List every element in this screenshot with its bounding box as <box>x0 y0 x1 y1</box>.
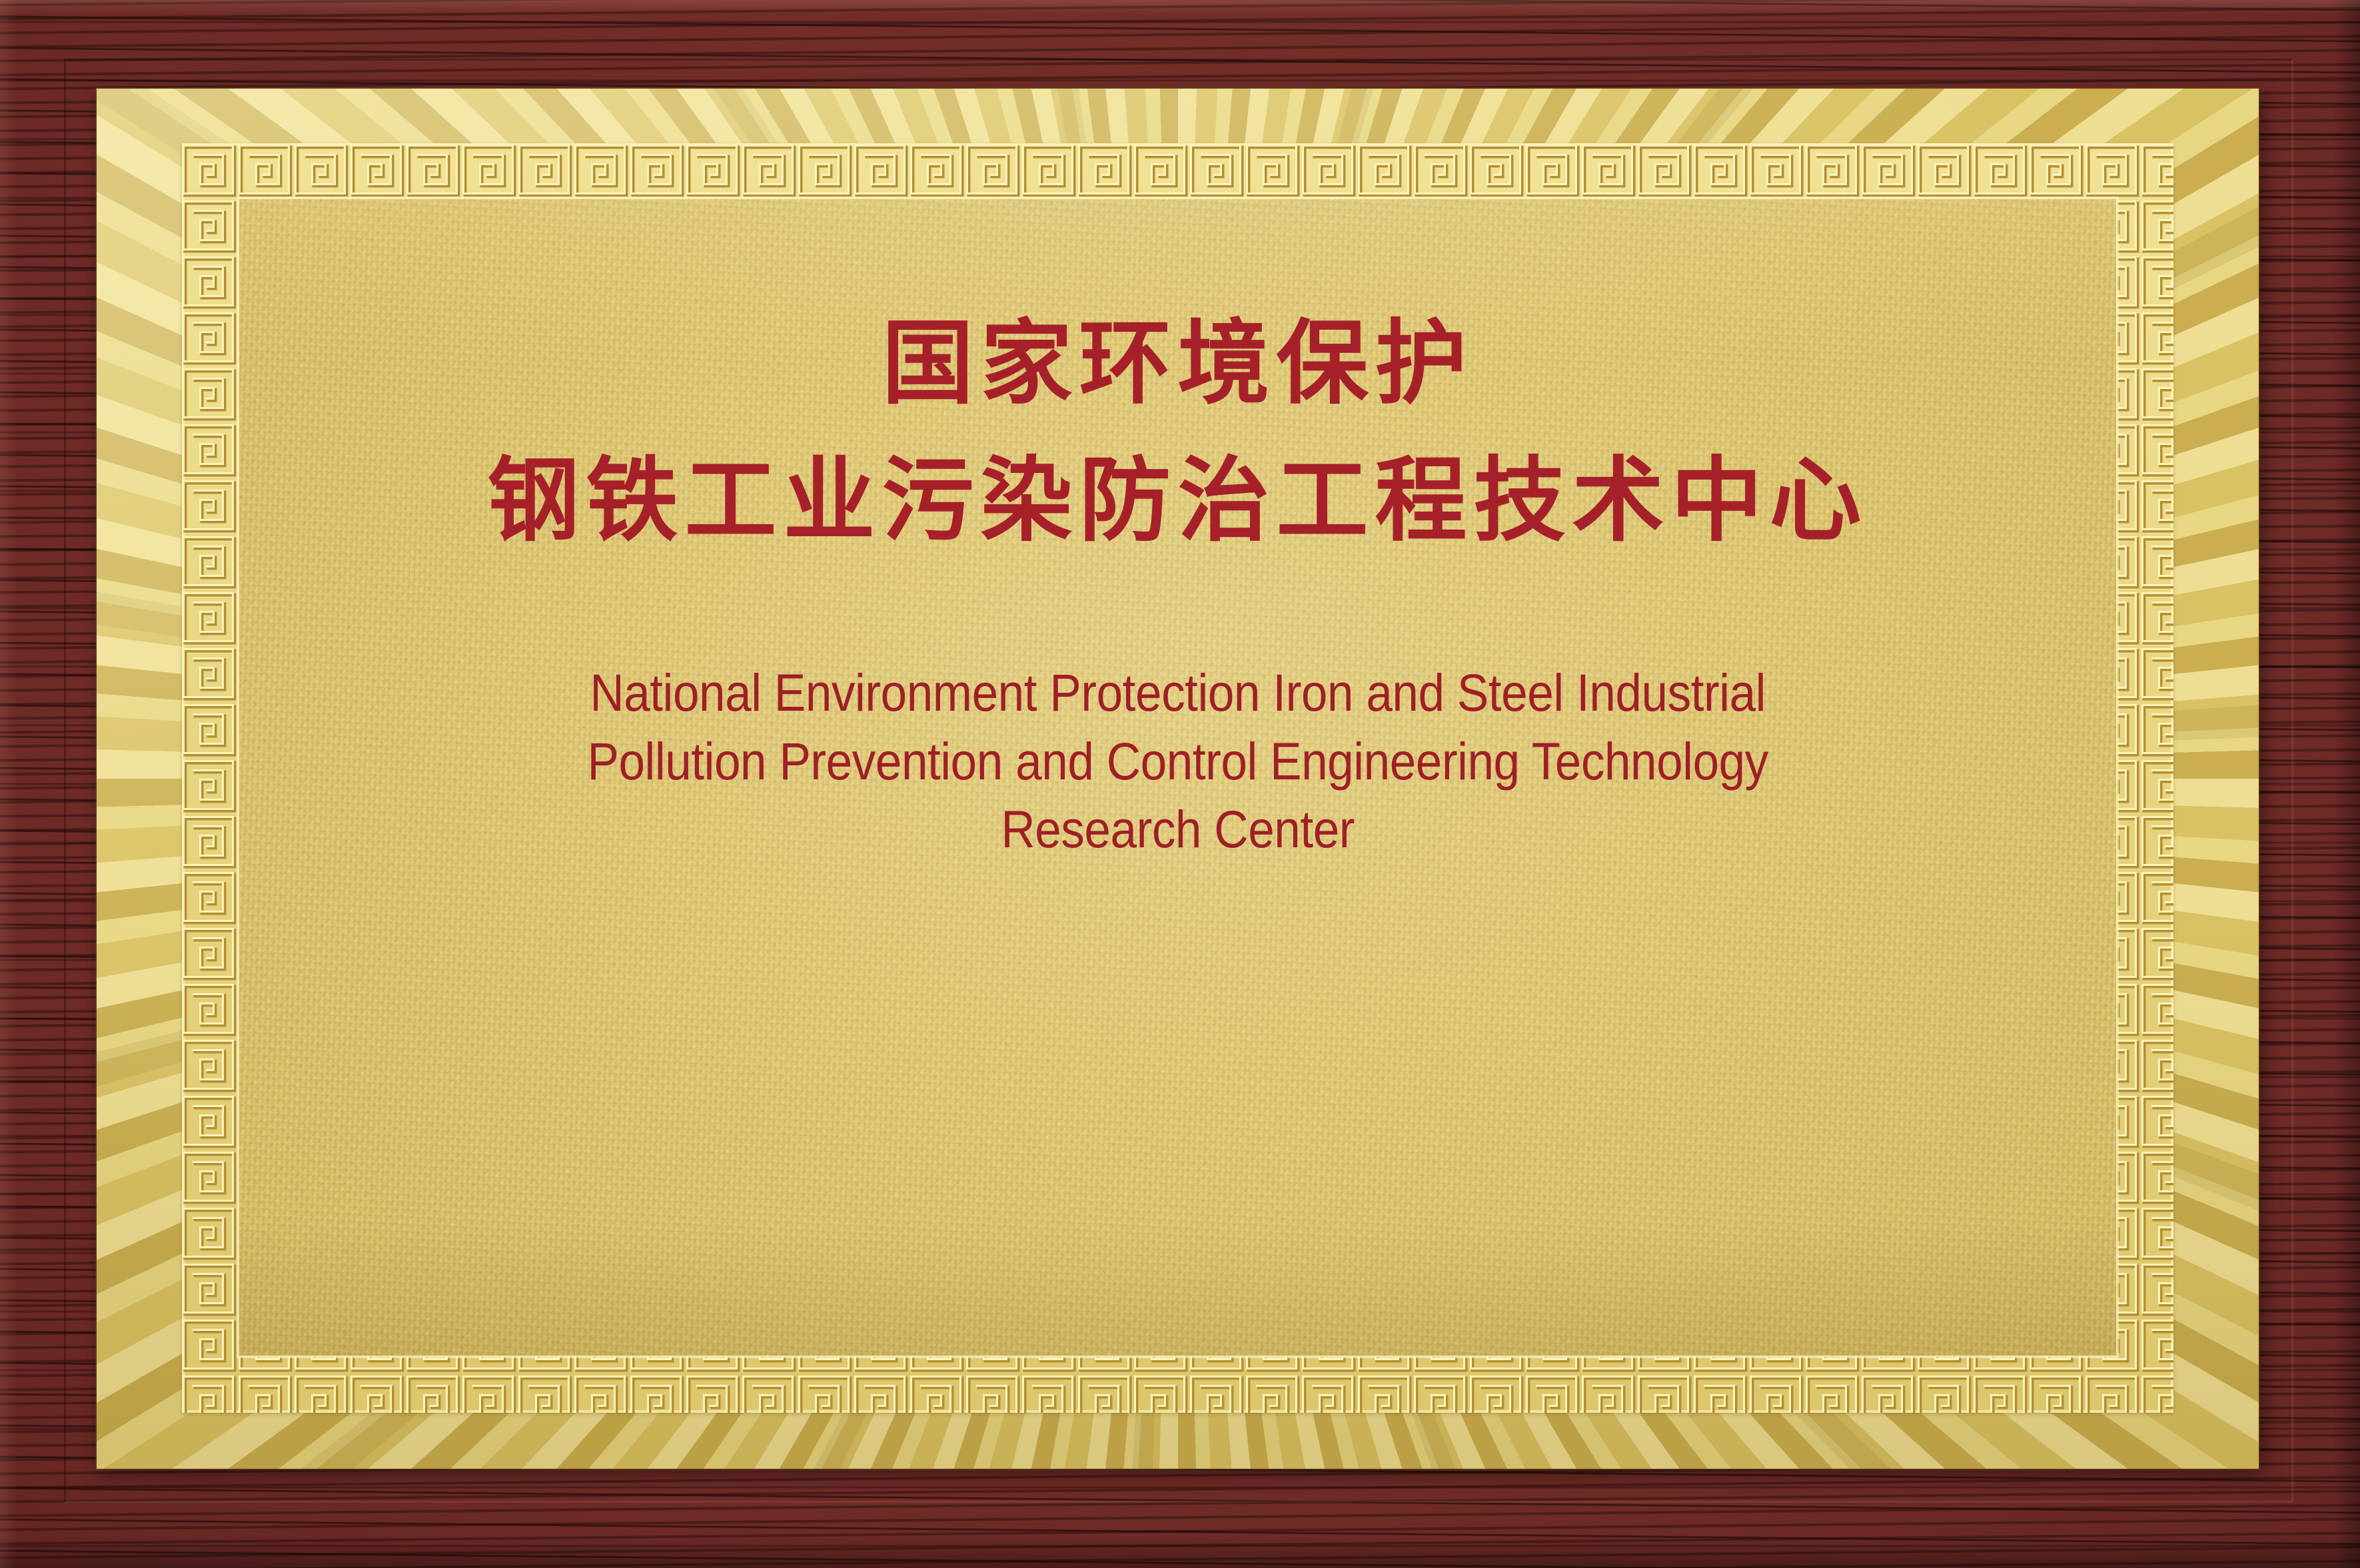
inner-panel: 国家环境保护 钢铁工业污染防治工程技术中心 National Environme… <box>239 199 2116 1356</box>
chinese-title-line-2: 钢铁工业污染防治工程技术中心 <box>487 455 1868 547</box>
plaque-image: 国家环境保护 钢铁工业污染防治工程技术中心 National Environme… <box>0 0 2360 1568</box>
gold-plate: 国家环境保护 钢铁工业污染防治工程技术中心 National Environme… <box>97 89 2259 1469</box>
chinese-title-line-1: 国家环境保护 <box>882 318 1473 410</box>
plaque-text-content: 国家环境保护 钢铁工业污染防治工程技术中心 National Environme… <box>239 199 2116 1356</box>
english-title-line-2: Pollution Prevention and Control Enginee… <box>587 727 1768 796</box>
english-title-block: National Environment Protection Iron and… <box>587 659 1768 864</box>
english-title-line-1: National Environment Protection Iron and… <box>587 659 1768 727</box>
meander-border-band: 国家环境保护 钢铁工业污染防治工程技术中心 National Environme… <box>182 143 2173 1413</box>
inner-panel-frame: 国家环境保护 钢铁工业污染防治工程技术中心 National Environme… <box>239 199 2116 1356</box>
english-title-line-3: Research Center <box>587 795 1768 864</box>
